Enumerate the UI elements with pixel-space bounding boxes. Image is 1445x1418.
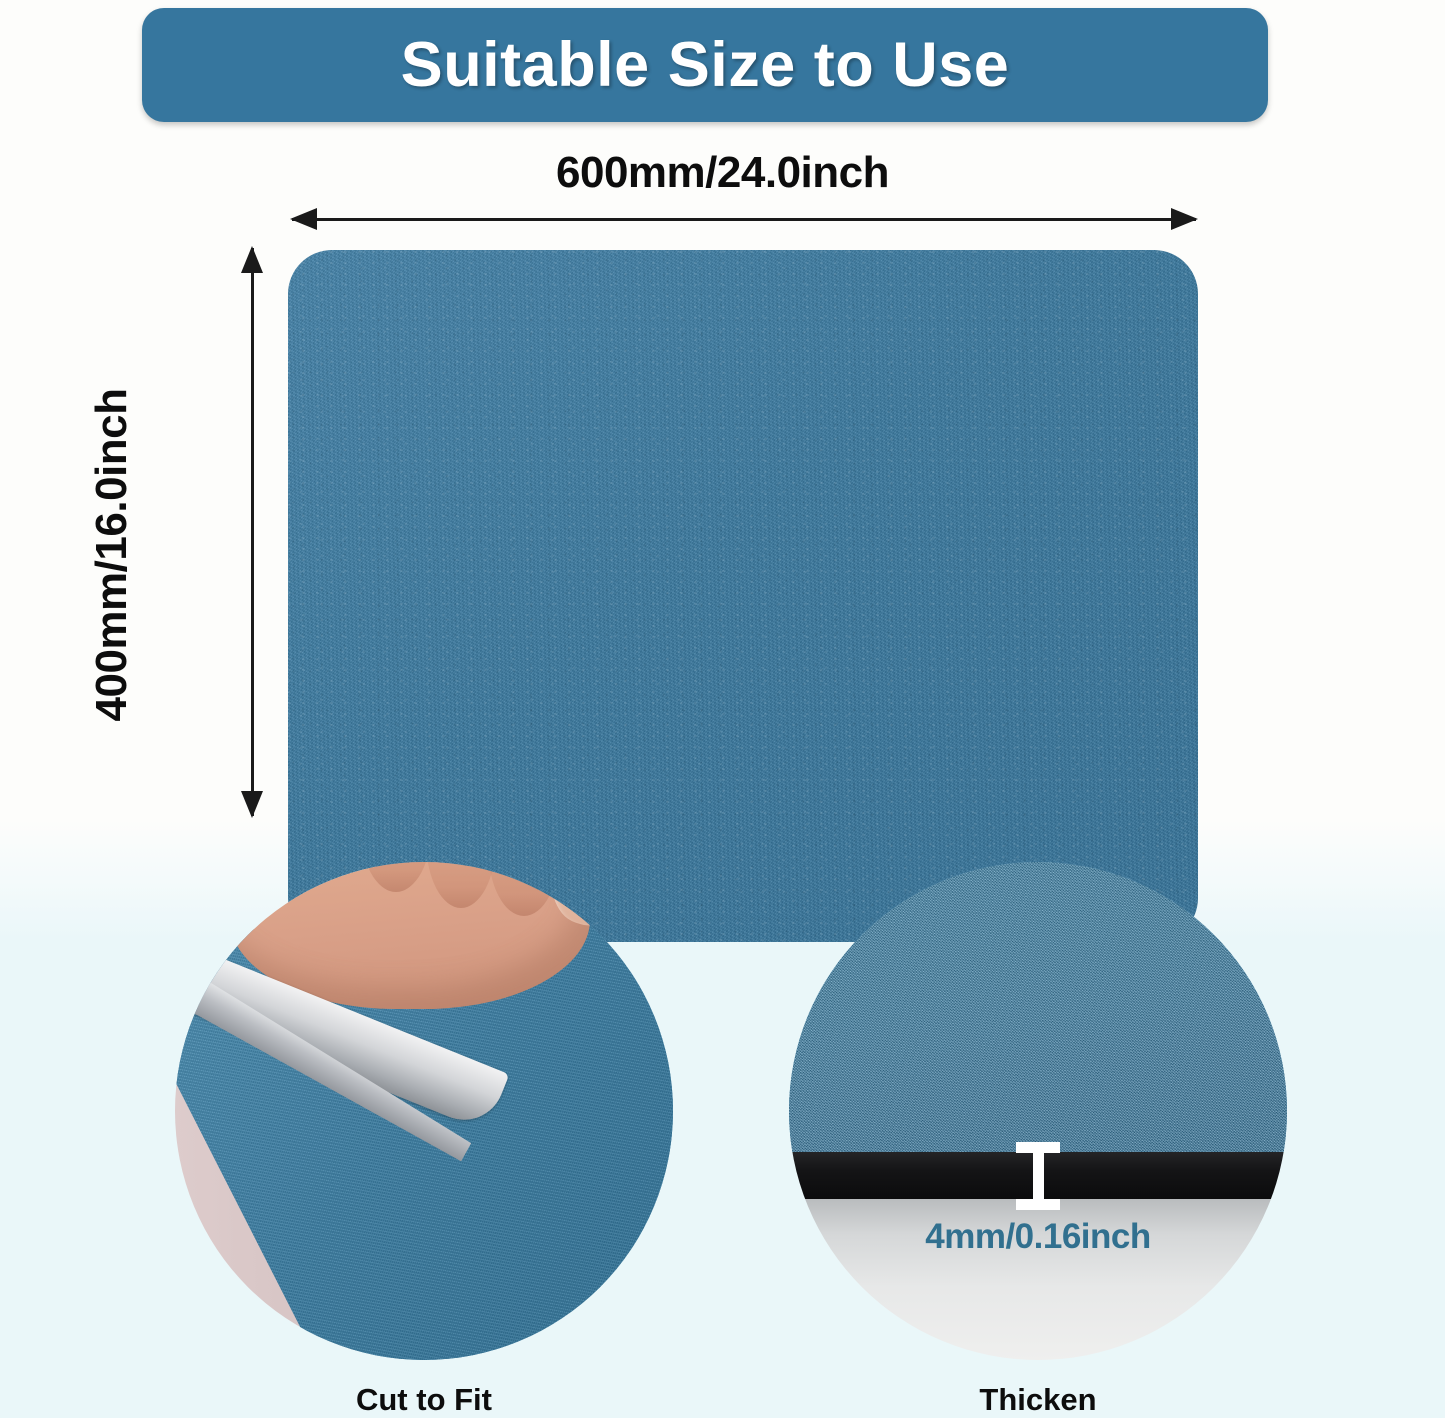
feature-thicken: 4mm/0.16inch Thicken bbox=[789, 862, 1287, 1418]
feature-label-cut-to-fit: Cut to Fit bbox=[175, 1382, 673, 1418]
width-dimension-line bbox=[292, 218, 1196, 221]
marker-cap-bottom bbox=[1016, 1199, 1060, 1210]
extension-line-right-vertical bbox=[0, 202, 2, 456]
height-dimension-line bbox=[251, 248, 254, 816]
infographic-page: Suitable Size to Use 600mm/24.0inch 400m… bbox=[0, 0, 1445, 1418]
desk-mat-product bbox=[288, 250, 1198, 942]
height-dimension-label: 400mm/16.0inch bbox=[87, 325, 137, 785]
feature-cut-to-fit: Cut to Fit bbox=[175, 862, 673, 1418]
feature-label-thicken: Thicken bbox=[789, 1382, 1287, 1418]
extension-line-bottom-horizontal bbox=[0, 458, 292, 460]
thicken-photo: 4mm/0.16inch bbox=[789, 862, 1287, 1360]
width-dimension-label: 600mm/24.0inch bbox=[0, 148, 1445, 198]
scissors-pivot bbox=[181, 906, 194, 919]
arrow-right-icon bbox=[1171, 208, 1198, 230]
arrow-up-icon bbox=[241, 246, 263, 273]
thickness-marker-icon bbox=[1016, 1142, 1060, 1210]
cut-to-fit-photo bbox=[175, 862, 673, 1360]
finger bbox=[426, 862, 496, 908]
mat-dimension-diagram: 600mm/24.0inch 400mm/16.0inch bbox=[0, 130, 1445, 850]
title-banner: Suitable Size to Use bbox=[142, 8, 1268, 122]
finger bbox=[360, 862, 432, 892]
finger bbox=[488, 862, 560, 916]
arrow-down-icon bbox=[241, 791, 263, 818]
thickness-label: 4mm/0.16inch bbox=[789, 1217, 1287, 1257]
page-title: Suitable Size to Use bbox=[401, 34, 1010, 97]
mat-top-surface bbox=[789, 862, 1287, 1152]
arrow-left-icon bbox=[290, 208, 317, 230]
